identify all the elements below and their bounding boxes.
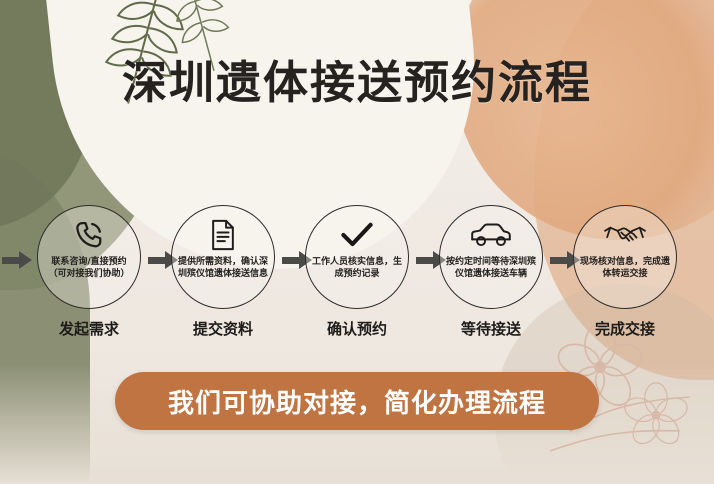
flow-step-5-desc: 现场核对信息，完成遗体转运交接 — [579, 256, 671, 280]
flow-step-2-desc: 提供所需资料，确认深圳殡仪馆遗体接送信息 — [177, 256, 269, 280]
flow-step-4-circle: 按约定时间等待深圳殡仪馆遗体接送车辆 — [439, 205, 543, 309]
flow-step-1-desc: 联系咨询/直接预约（可对接我们协助） — [43, 256, 135, 280]
flow-step-1[interactable]: 联系咨询/直接预约（可对接我们协助） 发起需求 — [32, 205, 146, 339]
page-title: 深圳遗体接送预约流程 — [0, 46, 714, 111]
flow-step-3-label: 确认预约 — [300, 318, 414, 339]
poster-root: 深圳遗体接送预约流程 — [0, 0, 714, 484]
cta-banner-text: 我们可协助对接，简化办理流程 — [168, 383, 546, 420]
flow-step-3[interactable]: 工作人员核实信息，生成预约记录 确认预约 — [300, 205, 414, 339]
flow-step-2-circle: 提供所需资料，确认深圳殡仪馆遗体接送信息 — [171, 205, 275, 309]
flow-arrow-0 — [2, 251, 32, 269]
flow-step-5[interactable]: 现场核对信息，完成遗体转运交接 完成交接 — [568, 205, 682, 339]
cta-banner[interactable]: 我们可协助对接，简化办理流程 — [115, 372, 599, 430]
flow-step-4-desc: 按约定时间等待深圳殡仪馆遗体接送车辆 — [445, 256, 537, 280]
flow-step-5-label: 完成交接 — [568, 318, 682, 339]
flow-step-2-label: 提交资料 — [166, 318, 280, 339]
flow-step-5-circle: 现场核对信息，完成遗体转运交接 — [573, 205, 677, 309]
process-flow: 联系咨询/直接预约（可对接我们协助） 发起需求 提供所需资料，确认深圳殡仪馆遗体… — [0, 205, 714, 355]
flow-step-1-label: 发起需求 — [32, 318, 146, 339]
flow-step-4-label: 等待接送 — [434, 318, 548, 339]
flow-step-4[interactable]: 按约定时间等待深圳殡仪馆遗体接送车辆 等待接送 — [434, 205, 548, 339]
phone-icon — [74, 217, 104, 253]
flow-step-3-desc: 工作人员核实信息，生成预约记录 — [311, 256, 403, 280]
document-icon — [209, 217, 237, 253]
flow-step-3-circle: 工作人员核实信息，生成预约记录 — [305, 205, 409, 309]
check-icon — [340, 217, 374, 253]
car-icon — [470, 217, 512, 253]
flow-step-2[interactable]: 提供所需资料，确认深圳殡仪馆遗体接送信息 提交资料 — [166, 205, 280, 339]
flow-step-1-circle: 联系咨询/直接预约（可对接我们协助） — [37, 205, 141, 309]
handshake-icon — [604, 217, 646, 253]
